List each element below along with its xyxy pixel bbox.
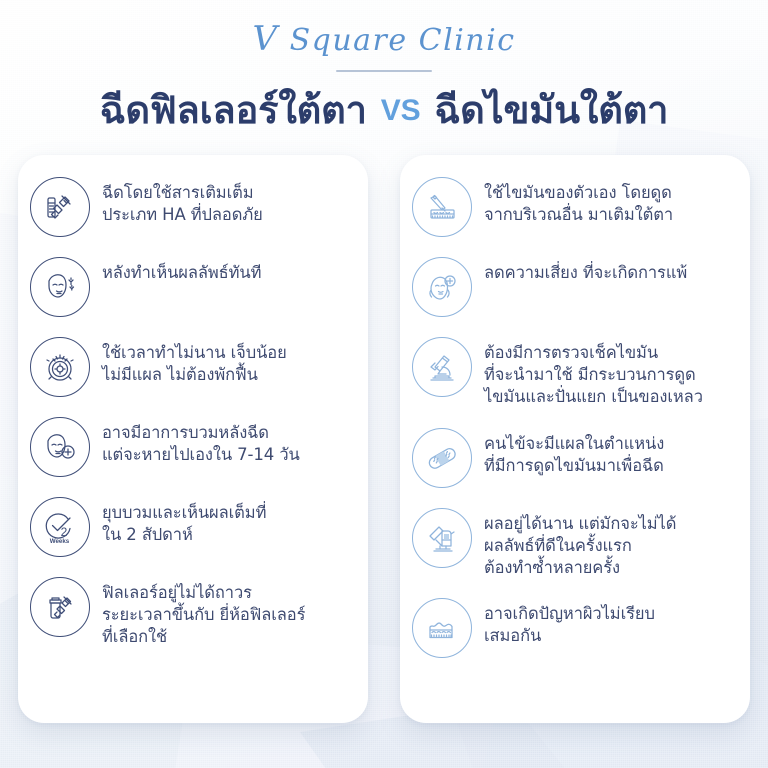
text-line: ต้องทำซ้ำหลายครั้ง [484, 557, 676, 579]
fat-transfer-card: ใช้ไขมันของตัวเอง โดยดูด จากบริเวณอื่น ม… [400, 155, 750, 723]
syringe-ampoule-icon [30, 177, 90, 237]
uneven-skin-icon [412, 598, 472, 658]
text-line: ใช้ไขมันของตัวเอง โดยดูด [484, 182, 673, 204]
text-line: ฉีดโดยใช้สารเติมเต็ม [102, 182, 263, 204]
text-line: ที่มีการดูดไขมันมาเพื่อฉีด [484, 455, 664, 477]
brand-word-square: Square [279, 23, 408, 58]
text-line: ใน 2 สัปดาห์ [102, 524, 266, 546]
list-item: คนไข้จะมีแผลในตำแหน่ง ที่มีการดูดไขมันมา… [412, 428, 736, 488]
title-left-term: ฉีดฟิลเลอร์ใต้ตา [100, 88, 367, 132]
treatment-chair-icon [412, 508, 472, 568]
filler-card: ฉีดโดยใช้สารเติมเต็ม ประเภท HA ที่ปลอดภั… [18, 155, 368, 723]
brand-logo: V Square Clinic [0, 22, 768, 56]
text-line: ลดความเสี่ยง ที่จะเกิดการแพ้ [484, 262, 687, 284]
poster-header: V Square Clinic ฉีดฟิลเลอร์ใต้ตาVSฉีดไขม… [0, 0, 768, 133]
list-item-text: ยุบบวมและเห็นผลเต็มที่ ใน 2 สัปดาห์ [102, 497, 266, 546]
text-line: ยุบบวมและเห็นผลเต็มที่ [102, 502, 266, 524]
text-line: ประเภท HA ที่ปลอดภัย [102, 204, 263, 226]
text-line: ผลอยู่ได้นาน แต่มักจะไม่ได้ [484, 513, 676, 535]
text-line: หลังทำเห็นผลลัพธ์ทันที [102, 262, 261, 284]
text-line: แต่จะหายไปเองใน 7-14 วัน [102, 444, 300, 466]
list-item: ผลอยู่ได้นาน แต่มักจะไม่ได้ ผลลัพธ์ที่ดี… [412, 508, 736, 579]
list-item: 2 Weeks ยุบบวมและเห็นผลเต็มที่ ใน 2 สัปด… [30, 497, 354, 557]
text-line: ฟิลเลอร์อยู่ไม่ได้ถาวร [102, 582, 305, 604]
text-line: ต้องมีการตรวจเช็คไขมัน [484, 342, 703, 364]
face-glow-icon [30, 257, 90, 317]
list-item-text: ต้องมีการตรวจเช็คไขมัน ที่จะนำมาใช้ มีกร… [484, 337, 703, 408]
svg-text:2: 2 [61, 525, 68, 539]
comparison-columns: ฉีดโดยใช้สารเติมเต็ม ประเภท HA ที่ปลอดภั… [0, 155, 768, 723]
face-allergy-shield-icon [412, 257, 472, 317]
list-item-text: ลดความเสี่ยง ที่จะเกิดการแพ้ [484, 257, 687, 284]
list-item-text: ฟิลเลอร์อยู่ไม่ได้ถาวร ระยะเวลาขึ้นกับ ย… [102, 577, 305, 648]
liposuction-cannula-icon [412, 177, 472, 237]
text-line: อาจมีอาการบวมหลังฉีด [102, 422, 300, 444]
text-line: ผลลัพธ์ที่ดีในครั้งแรก [484, 535, 676, 557]
list-item: ใช้เวลาทำไม่นาน เจ็บน้อย ไม่มีแผล ไม่ต้อ… [30, 337, 354, 397]
header-divider [336, 70, 432, 72]
list-item-text: อาจมีอาการบวมหลังฉีด แต่จะหายไปเองใน 7-1… [102, 417, 300, 466]
list-item: ต้องมีการตรวจเช็คไขมัน ที่จะนำมาใช้ มีกร… [412, 337, 736, 408]
text-line: คนไข้จะมีแผลในตำแหน่ง [484, 433, 664, 455]
syringe-vial-icon [30, 577, 90, 637]
vs-separator: VS [367, 94, 435, 127]
bandage-icon [412, 428, 472, 488]
two-weeks-clock-icon: 2 Weeks [30, 497, 90, 557]
list-item-text: คนไข้จะมีแผลในตำแหน่ง ที่มีการดูดไขมันมา… [484, 428, 664, 477]
clock-quick-icon [30, 337, 90, 397]
text-line: เสมอกัน [484, 625, 655, 647]
list-item: อาจเกิดปัญหาผิวไม่เรียบ เสมอกัน [412, 598, 736, 658]
page-title: ฉีดฟิลเลอร์ใต้ตาVSฉีดไขมันใต้ตา [0, 88, 768, 133]
microscope-icon [412, 337, 472, 397]
text-line: ไม่มีแผล ไม่ต้องพักฟื้น [102, 364, 287, 386]
brand-word-clinic: Clinic [408, 23, 516, 58]
list-item-text: ฉีดโดยใช้สารเติมเต็ม ประเภท HA ที่ปลอดภั… [102, 177, 263, 226]
text-line: ไขมันและปั่นแยก เป็นของเหลว [484, 386, 703, 408]
list-item-text: ใช้เวลาทำไม่นาน เจ็บน้อย ไม่มีแผล ไม่ต้อ… [102, 337, 287, 386]
list-item: ใช้ไขมันของตัวเอง โดยดูด จากบริเวณอื่น ม… [412, 177, 736, 237]
list-item-text: หลังทำเห็นผลลัพธ์ทันที [102, 257, 261, 284]
list-item-text: ใช้ไขมันของตัวเอง โดยดูด จากบริเวณอื่น ม… [484, 177, 673, 226]
list-item: ฉีดโดยใช้สารเติมเต็ม ประเภท HA ที่ปลอดภั… [30, 177, 354, 237]
text-line: จากบริเวณอื่น มาเติมใต้ตา [484, 204, 673, 226]
text-line: ใช้เวลาทำไม่นาน เจ็บน้อย [102, 342, 287, 364]
text-line: ระยะเวลาขึ้นกับ ยี่ห้อฟิลเลอร์ [102, 604, 305, 626]
list-item: อาจมีอาการบวมหลังฉีด แต่จะหายไปเองใน 7-1… [30, 417, 354, 477]
svg-text:Weeks: Weeks [50, 538, 70, 545]
title-right-term: ฉีดไขมันใต้ตา [434, 88, 668, 132]
brand-initial: V [252, 19, 278, 59]
list-item: หลังทำเห็นผลลัพธ์ทันที [30, 257, 354, 317]
text-line: อาจเกิดปัญหาผิวไม่เรียบ [484, 603, 655, 625]
list-item-text: ผลอยู่ได้นาน แต่มักจะไม่ได้ ผลลัพธ์ที่ดี… [484, 508, 676, 579]
poster-root: V Square Clinic ฉีดฟิลเลอร์ใต้ตาVSฉีดไขม… [0, 0, 768, 768]
list-item: ลดความเสี่ยง ที่จะเกิดการแพ้ [412, 257, 736, 317]
list-item: ฟิลเลอร์อยู่ไม่ได้ถาวร ระยะเวลาขึ้นกับ ย… [30, 577, 354, 648]
text-line: ที่จะนำมาใช้ มีกระบวนการดูด [484, 364, 703, 386]
list-item-text: อาจเกิดปัญหาผิวไม่เรียบ เสมอกัน [484, 598, 655, 647]
face-swelling-icon [30, 417, 90, 477]
text-line: ที่เลือกใช้ [102, 626, 305, 648]
